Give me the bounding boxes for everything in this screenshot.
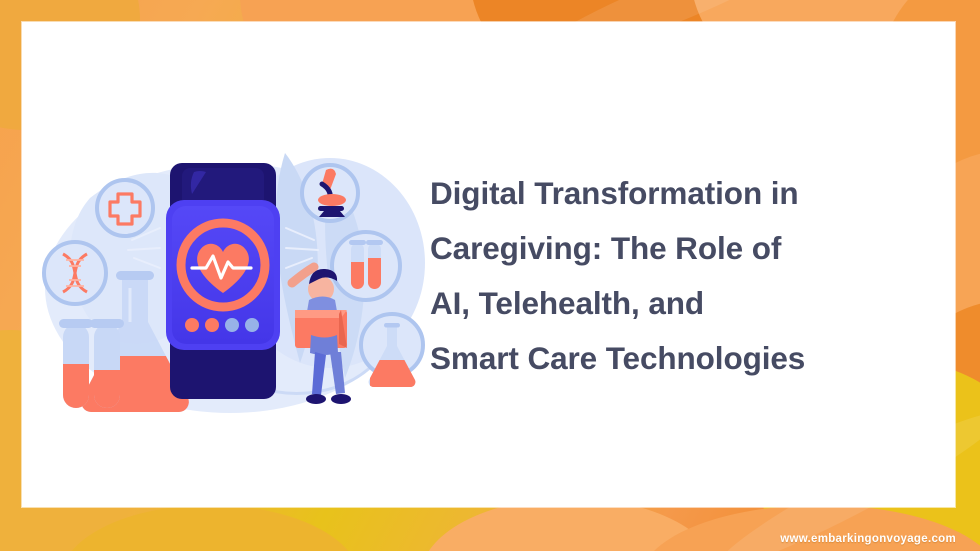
dna-helix-icon — [44, 242, 106, 304]
flask-icon — [361, 314, 423, 392]
promo-banner: Digital Transformation in Caregiving: Th… — [0, 0, 980, 551]
page-title: Digital Transformation in Caregiving: Th… — [430, 166, 930, 386]
title-line: Smart Care Technologies — [430, 331, 930, 386]
site-watermark: www.embarkingonvoyage.com — [780, 533, 956, 545]
microscope-icon — [302, 165, 358, 221]
medical-cross-icon — [97, 180, 153, 236]
title-line: Digital Transformation in — [430, 166, 930, 221]
test-tubes-icon — [332, 232, 400, 300]
title-line: Caregiving: The Role of — [430, 221, 930, 276]
smart-health-monitoring-illustration — [30, 138, 440, 428]
title-line: AI, Telehealth, and — [430, 276, 930, 331]
